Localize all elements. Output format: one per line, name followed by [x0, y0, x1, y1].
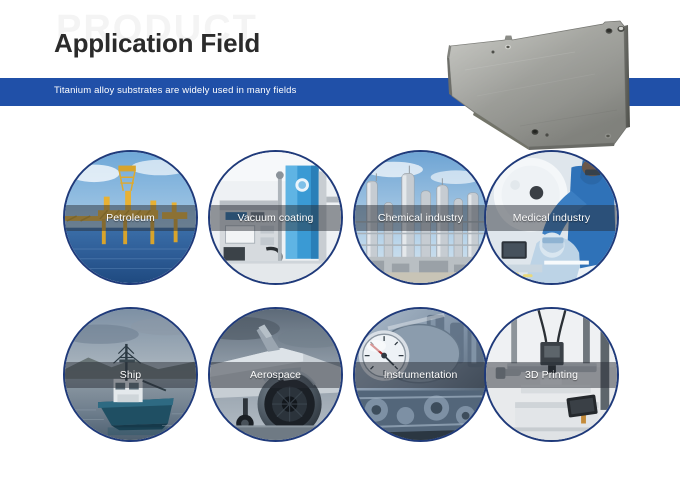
hero-image	[425, 0, 680, 152]
titanium-plate-illustration	[425, 0, 680, 152]
page-title: Application Field	[54, 28, 260, 59]
application-field-slide: PRODUCT Application Field Titanium alloy…	[0, 0, 680, 485]
label-band: Chemical industry	[355, 205, 486, 231]
circle-frame: Aerospace	[208, 307, 343, 442]
grid-item-label: Chemical industry	[378, 212, 463, 224]
circle-frame: Instrumentation	[353, 307, 488, 442]
grid-item-petroleum[interactable]: Petroleum	[63, 150, 198, 285]
circle-frame: Ship	[63, 307, 198, 442]
grid-item-3d-printing[interactable]: 3D Printing	[484, 307, 619, 442]
grid-item-label: Petroleum	[106, 212, 155, 224]
grid-item-ship[interactable]: Ship	[63, 307, 198, 442]
circle-frame: 3D Printing	[484, 307, 619, 442]
grid-item-label: Ship	[120, 369, 141, 381]
grid-item-label: Aerospace	[250, 369, 301, 381]
banner-subtitle: Titanium alloy substrates are widely use…	[54, 85, 297, 96]
label-band: Aerospace	[210, 362, 341, 388]
label-band: Vacuum coating	[210, 205, 341, 231]
label-band: Medical industry	[486, 205, 617, 231]
grid-item-label: Instrumentation	[384, 369, 458, 381]
label-band: Ship	[65, 362, 196, 388]
label-band: 3D Printing	[486, 362, 617, 388]
circle-frame: Vacuum coating	[208, 150, 343, 285]
grid-item-instrumentation[interactable]: Instrumentation	[353, 307, 488, 442]
grid-item-label: Vacuum coating	[238, 212, 314, 224]
grid-item-aerospace[interactable]: Aerospace	[208, 307, 343, 442]
grid-item-vacuum-coating[interactable]: Vacuum coating	[208, 150, 343, 285]
grid-item-chemical-industry[interactable]: Chemical industry	[353, 150, 488, 285]
grid-item-label: 3D Printing	[525, 369, 578, 381]
label-band: Petroleum	[65, 205, 196, 231]
grid-item-label: Medical industry	[513, 212, 590, 224]
circle-frame: Petroleum	[63, 150, 198, 285]
grid-item-medical-industry[interactable]: Medical industry	[484, 150, 619, 285]
circle-frame: Medical industry	[484, 150, 619, 285]
label-band: Instrumentation	[355, 362, 486, 388]
circle-frame: Chemical industry	[353, 150, 488, 285]
application-grid: Petroleum	[63, 150, 619, 442]
